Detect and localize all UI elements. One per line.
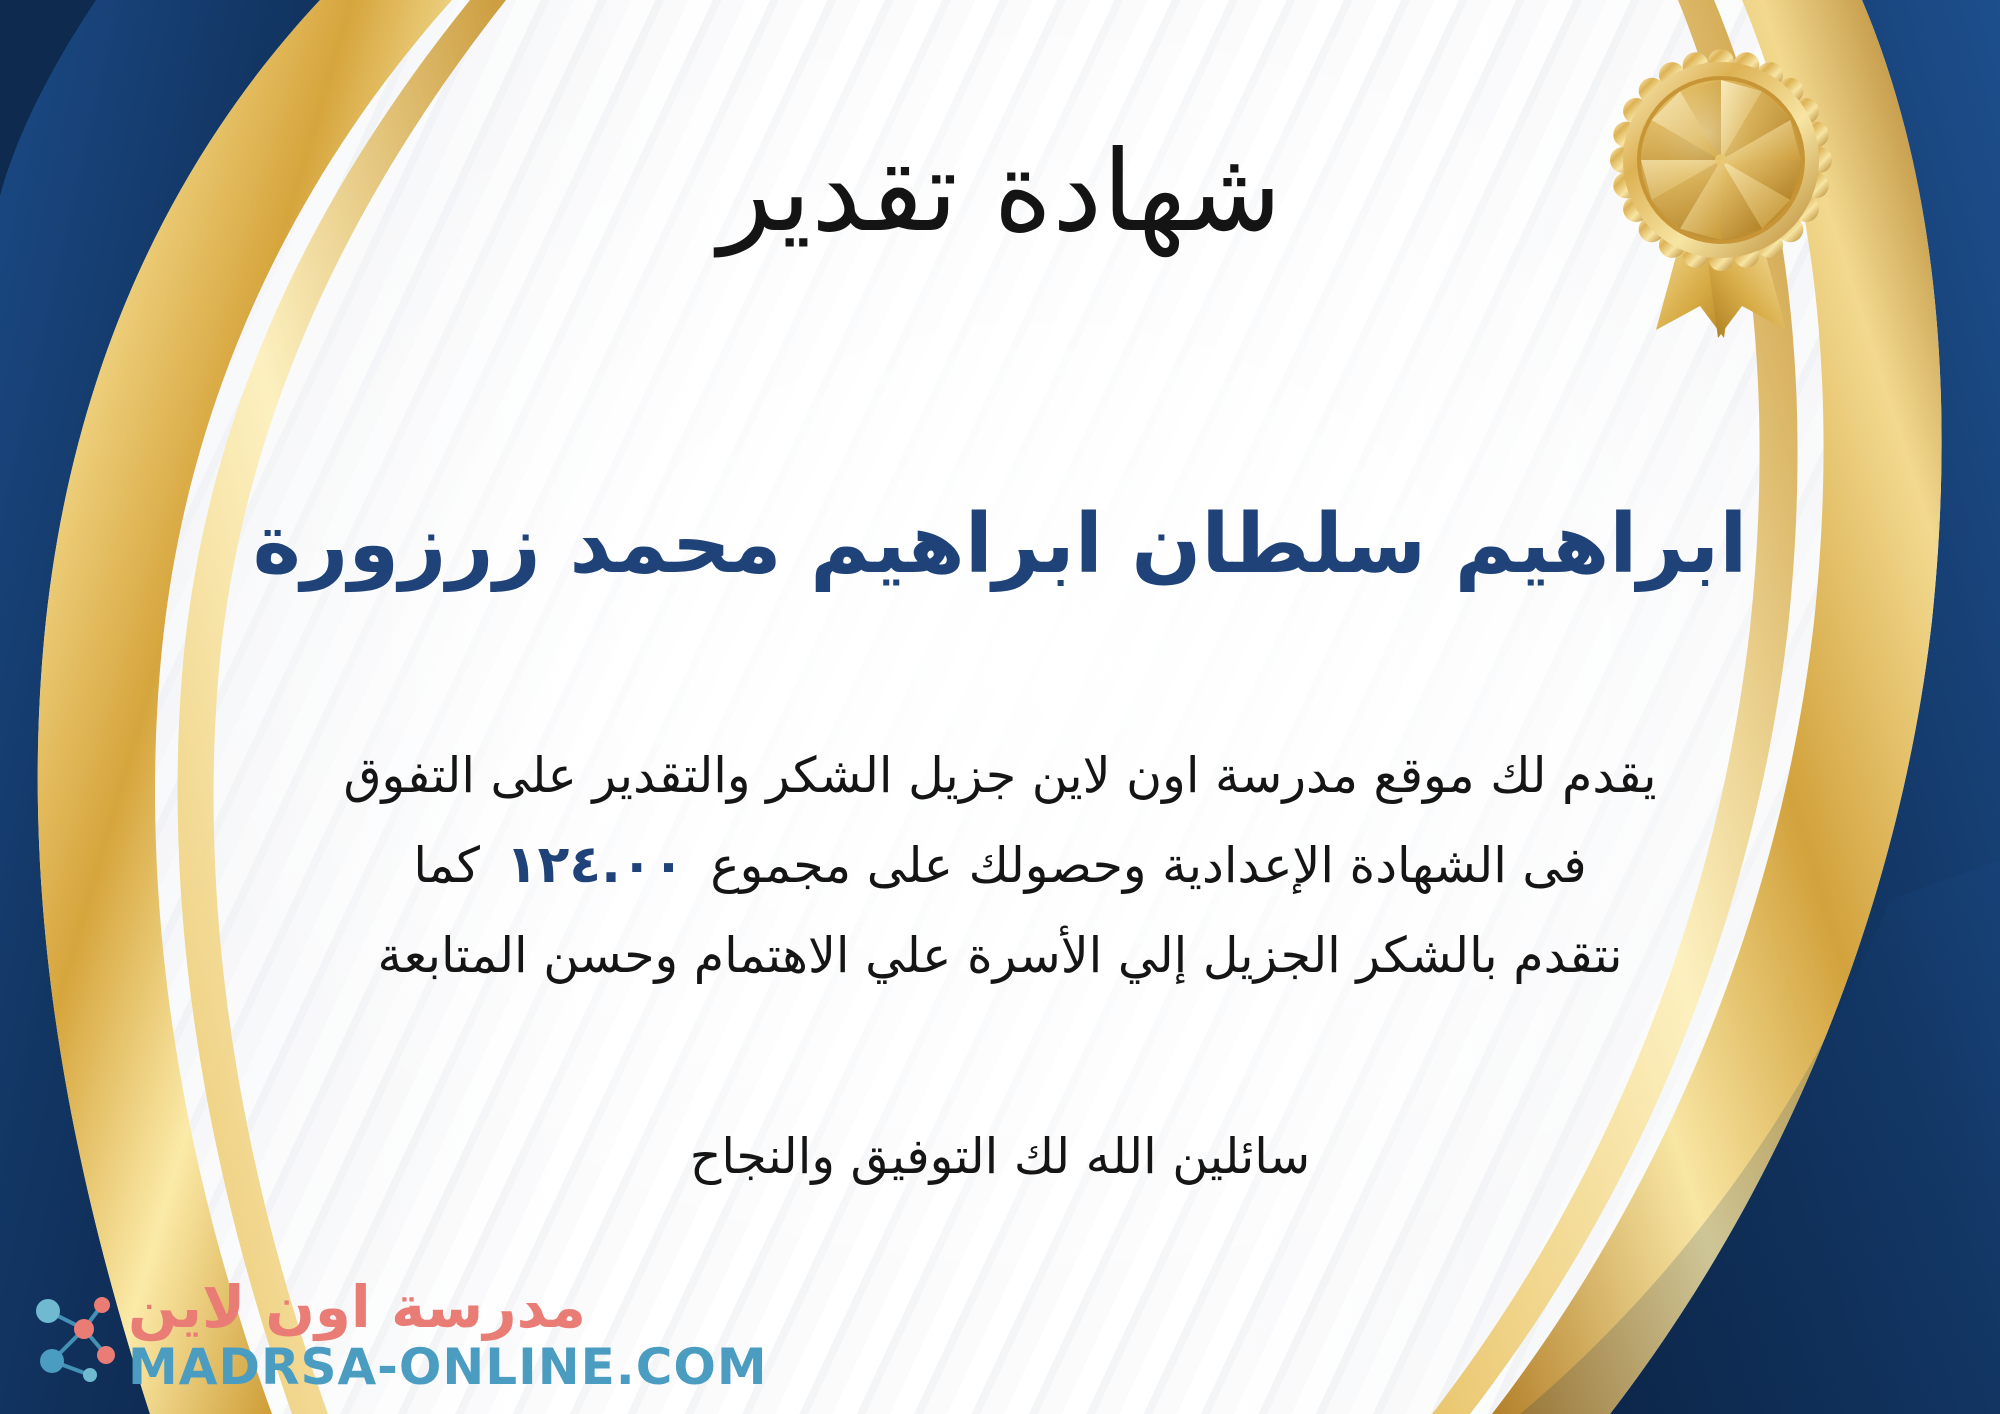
brand-website: MADRSA-ONLINE.COM	[128, 1342, 768, 1392]
page-title: شهادة تقدير	[0, 130, 2000, 255]
body-line-3: نتقدم بالشكر الجزيل إلي الأسرة علي الاهت…	[55, 912, 1945, 999]
certificate-content: شهادة تقدير ابراهيم سلطان ابراهيم محمد ز…	[0, 0, 2000, 1414]
body-line-2: فى الشهادة الإعدادية وحصولك على مجموع١٢٤…	[55, 819, 1945, 912]
body-line-1: يقدم لك موقع مدرسة اون لاين جزيل الشكر و…	[55, 732, 1945, 819]
closing-blessing: سائلين الله لك التوفيق والنجاح	[0, 1120, 2000, 1194]
brand-arabic-name: مدرسة اون لاين	[128, 1278, 586, 1336]
body-line-2-suffix: كما	[413, 837, 480, 894]
certificate-body: يقدم لك موقع مدرسة اون لاين جزيل الشكر و…	[55, 732, 1945, 999]
body-line-2-prefix: فى الشهادة الإعدادية وحصولك على مجموع	[710, 837, 1586, 894]
brand-text: مدرسة اون لاين MADRSA-ONLINE.COM	[128, 1278, 768, 1392]
recipient-name: ابراهيم سلطان ابراهيم محمد زرزورة	[0, 497, 2000, 594]
brand-logo[interactable]: مدرسة اون لاين MADRSA-ONLINE.COM	[22, 1278, 768, 1392]
certificate-canvas: شهادة تقدير ابراهيم سلطان ابراهيم محمد ز…	[0, 0, 2000, 1414]
network-nodes-icon	[22, 1283, 118, 1387]
grade-total-value: ١٢٤.٠٠	[480, 835, 710, 895]
